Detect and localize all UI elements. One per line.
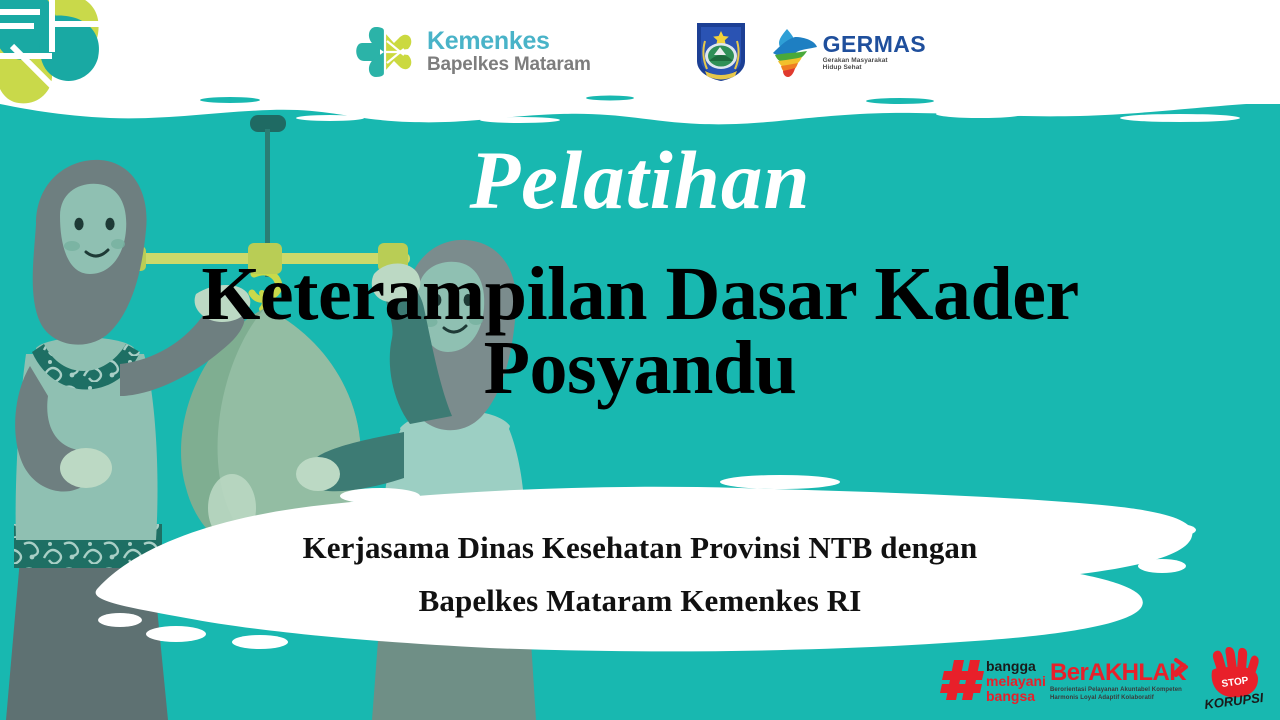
page-title-line1: Keterampilan Dasar Kader [201,252,1078,336]
svg-text:bangsa: bangsa [986,688,1035,704]
presentation-slide: Pelatihan Keterampilan Dasar Kader Posya… [0,0,1280,720]
page-title: Keterampilan Dasar Kader Posyandu [0,258,1280,405]
germas-person-icon [765,27,817,77]
berakhlak-tagline-line2: Harmonis Loyal Adaptif Kolaboratif [1050,694,1190,702]
subtitle-line2: Bapelkes Mataram Kemenkes RI [0,574,1280,627]
ntb-germas-logo-group: GERMAS Gerakan Masyarakat Hidup Sehat [695,21,926,83]
logo-row: Kemenkes Bapelkes Mataram [0,0,1280,104]
germas-wordmark: GERMAS [823,33,926,56]
svg-text:bangga: bangga [986,658,1036,674]
berakhlak-wordmark: BerAKHLAK [1050,658,1190,686]
svg-text:BerAKHLAK: BerAKHLAK [1050,659,1187,686]
stop-korupsi-logo: STOP KORUPSI [1200,647,1272,713]
germas-logo: GERMAS Gerakan Masyarakat Hidup Sehat [765,27,926,77]
kemenkes-logo: Kemenkes Bapelkes Mataram [354,21,591,83]
berakhlak-tagline-line1: Berorientasi Pelayanan Akuntabel Kompete… [1050,686,1190,694]
kemenkes-clover-icon [354,21,416,83]
subtitle-line1: Kerjasama Dinas Kesehatan Provinsi NTB d… [303,530,978,565]
kemenkes-wordmark-line1: Kemenkes [427,28,591,55]
svg-text:KORUPSI: KORUPSI [1204,690,1265,712]
kemenkes-wordmark-line2: Bapelkes Mataram [427,55,591,76]
berakhlak-logo: BerAKHLAK Berorientasi Pelayanan Akuntab… [1050,654,1190,706]
slide-eyebrow-title: Pelatihan [0,140,1280,221]
footer-logo-group: bangga melayani bangsa BerAKHLAK Berorie… [944,644,1272,716]
ntb-province-emblem-icon [695,21,747,83]
bangga-melayani-bangsa-logo: bangga melayani bangsa [944,654,1040,706]
page-title-line2: Posyandu [60,332,1220,406]
germas-tagline-line2: Hidup Sehat [823,65,926,72]
svg-text:melayani: melayani [986,673,1046,689]
slide-subtitle: Kerjasama Dinas Kesehatan Provinsi NTB d… [0,521,1280,628]
